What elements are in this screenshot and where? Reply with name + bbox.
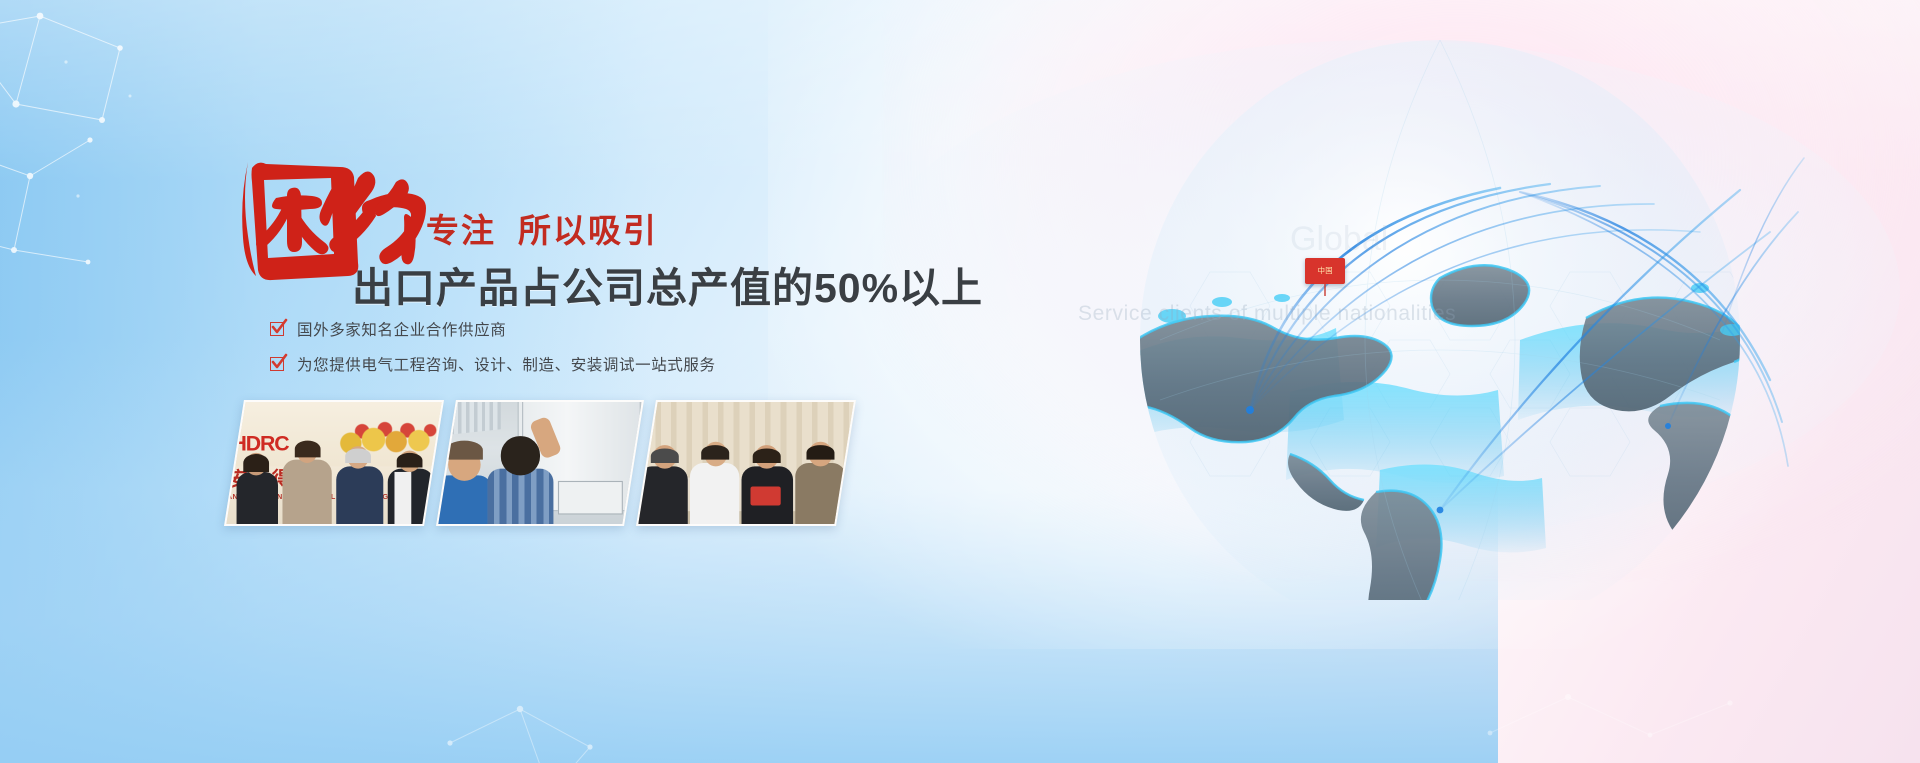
photo-strip: HDRC 安徽得润 ANHUI HERUN ELECTRICAL TECHNOL… [228,400,868,530]
photo-thumbnail[interactable]: HDRC 安徽得润 ANHUI HERUN ELECTRICAL TECHNOL… [224,400,444,526]
feature-bullet-list: 国外多家知名企业合作供应商 为您提供电气工程咨询、设计、制造、安装调试一站式服务 [270,318,716,388]
calligraphy-row: 专注所以吸引 出口产品占公司总产值的50%以上 [236,158,936,276]
dotted-constellation-decoration-2 [430,623,690,763]
photo-thumbnail[interactable] [436,400,644,526]
page-title: 出口产品占公司总产值的50%以上 [352,254,983,314]
slogan-text: 专注所以吸引 [426,204,658,252]
dotted-constellation-decoration-3 [1480,623,1780,763]
bullet-text: 为您提供电气工程咨询、设计、制造、安装调试一站式服务 [297,353,716,375]
photo-thumbnail[interactable] [636,400,856,526]
bullet-text: 国外多家知名企业合作供应商 [297,318,506,340]
list-item: 国外多家知名企业合作供应商 [270,318,716,340]
checkbox-checked-icon [270,357,284,371]
slogan-part-2: 所以吸引 [518,212,658,249]
promo-banner: Service clients of multiple nationalitie… [0,0,1920,763]
headline-copy-block: 专注所以吸引 出口产品占公司总产值的50%以上 国外多家知名企业合作供应商 为您… [236,158,936,276]
slogan-part-1: 专注 [426,212,496,249]
checkbox-checked-icon [270,322,284,336]
list-item: 为您提供电气工程咨询、设计、制造、安装调试一站式服务 [270,353,716,375]
